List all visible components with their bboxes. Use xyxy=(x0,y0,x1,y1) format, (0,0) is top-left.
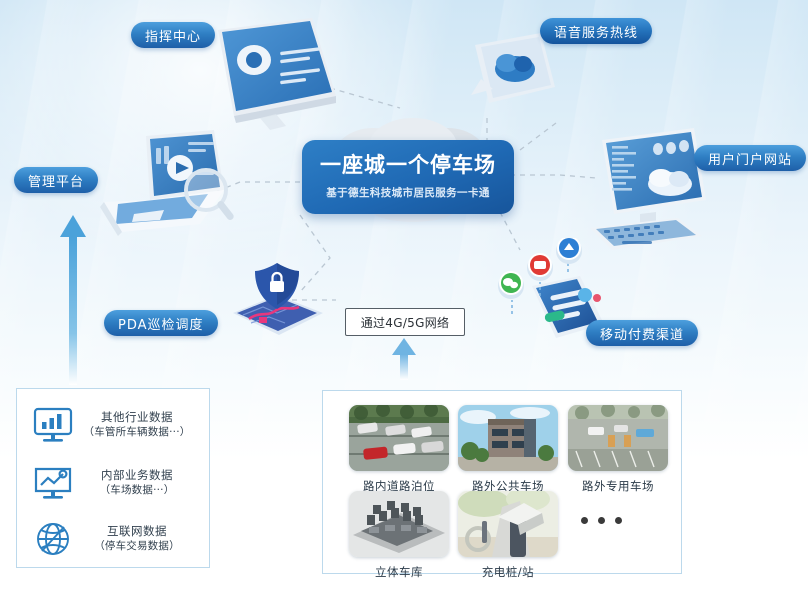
label-user-portal-site[interactable]: 用户门户网站 xyxy=(694,145,806,171)
data-sources-panel: 其他行业数据 （车管所车辆数据···） 内部业务数据 （车场数据···） xyxy=(16,388,210,568)
data-source-row[interactable]: 互联网数据 （停车交易数据） xyxy=(31,519,199,559)
data-source-sub: （车管所车辆数据···） xyxy=(84,425,191,440)
more-scenes-indicator xyxy=(581,517,622,524)
security-shield-map-illustration xyxy=(215,255,335,345)
globe-network-icon xyxy=(31,519,75,559)
banner-title: 一座城一个停车场 xyxy=(320,155,496,176)
data-source-sub: （车场数据···） xyxy=(100,483,175,498)
data-flow-arrow-center xyxy=(392,338,416,380)
scene-caption: 立体车库 xyxy=(349,564,449,580)
parking-scenes-panel: 路内道路泊位 路外公共车场 xyxy=(322,390,682,574)
data-source-title: 内部业务数据 xyxy=(101,468,173,484)
label-voice-service-hotline[interactable]: 语音服务热线 xyxy=(540,18,652,44)
label-pda-inspection[interactable]: PDA巡检调度 xyxy=(104,310,218,336)
on-street-parking-photo xyxy=(349,405,449,471)
data-source-title: 互联网数据 xyxy=(107,524,167,540)
network-note-box: 通过4G/5G网络 xyxy=(345,308,465,336)
multilevel-garage-photo xyxy=(349,491,449,557)
data-source-sub: （停车交易数据） xyxy=(94,539,180,554)
monitor-line-chart-icon xyxy=(31,463,75,503)
scene-caption: 路外专用车场 xyxy=(568,478,668,494)
scene-card[interactable]: 路外公共车场 xyxy=(458,405,558,494)
data-source-title: 其他行业数据 xyxy=(101,410,173,426)
scene-card[interactable]: 路内道路泊位 xyxy=(349,405,449,494)
monitor-bar-chart-icon xyxy=(31,405,75,445)
scene-caption: 充电桩/站 xyxy=(458,564,558,580)
label-command-center[interactable]: 指挥中心 xyxy=(131,22,215,48)
laptop-illustration xyxy=(88,128,238,243)
public-parking-building-photo xyxy=(458,405,558,471)
banner-subtitle: 基于德生科技城市居民服务一卡通 xyxy=(326,185,490,200)
dedicated-parking-lot-photo xyxy=(568,405,668,471)
scene-card[interactable]: 充电桩/站 xyxy=(458,491,558,580)
label-management-platform[interactable]: 管理平台 xyxy=(14,167,98,193)
data-source-row[interactable]: 内部业务数据 （车场数据···） xyxy=(31,463,199,503)
center-banner: 一座城一个停车场 基于德生科技城市居民服务一卡通 xyxy=(302,140,514,214)
scene-card[interactable]: 立体车库 xyxy=(349,491,449,580)
ev-charging-station-photo xyxy=(458,491,558,557)
label-mobile-payment[interactable]: 移动付费渠道 xyxy=(586,320,698,346)
scene-card[interactable]: 路外专用车场 xyxy=(568,405,668,494)
data-source-row[interactable]: 其他行业数据 （车管所车辆数据···） xyxy=(31,405,199,445)
infographic-canvas: 一座城一个停车场 基于德生科技城市居民服务一卡通 指挥中心 语音服务热线 管理平… xyxy=(0,0,808,590)
data-flow-arrow-left xyxy=(60,215,86,385)
